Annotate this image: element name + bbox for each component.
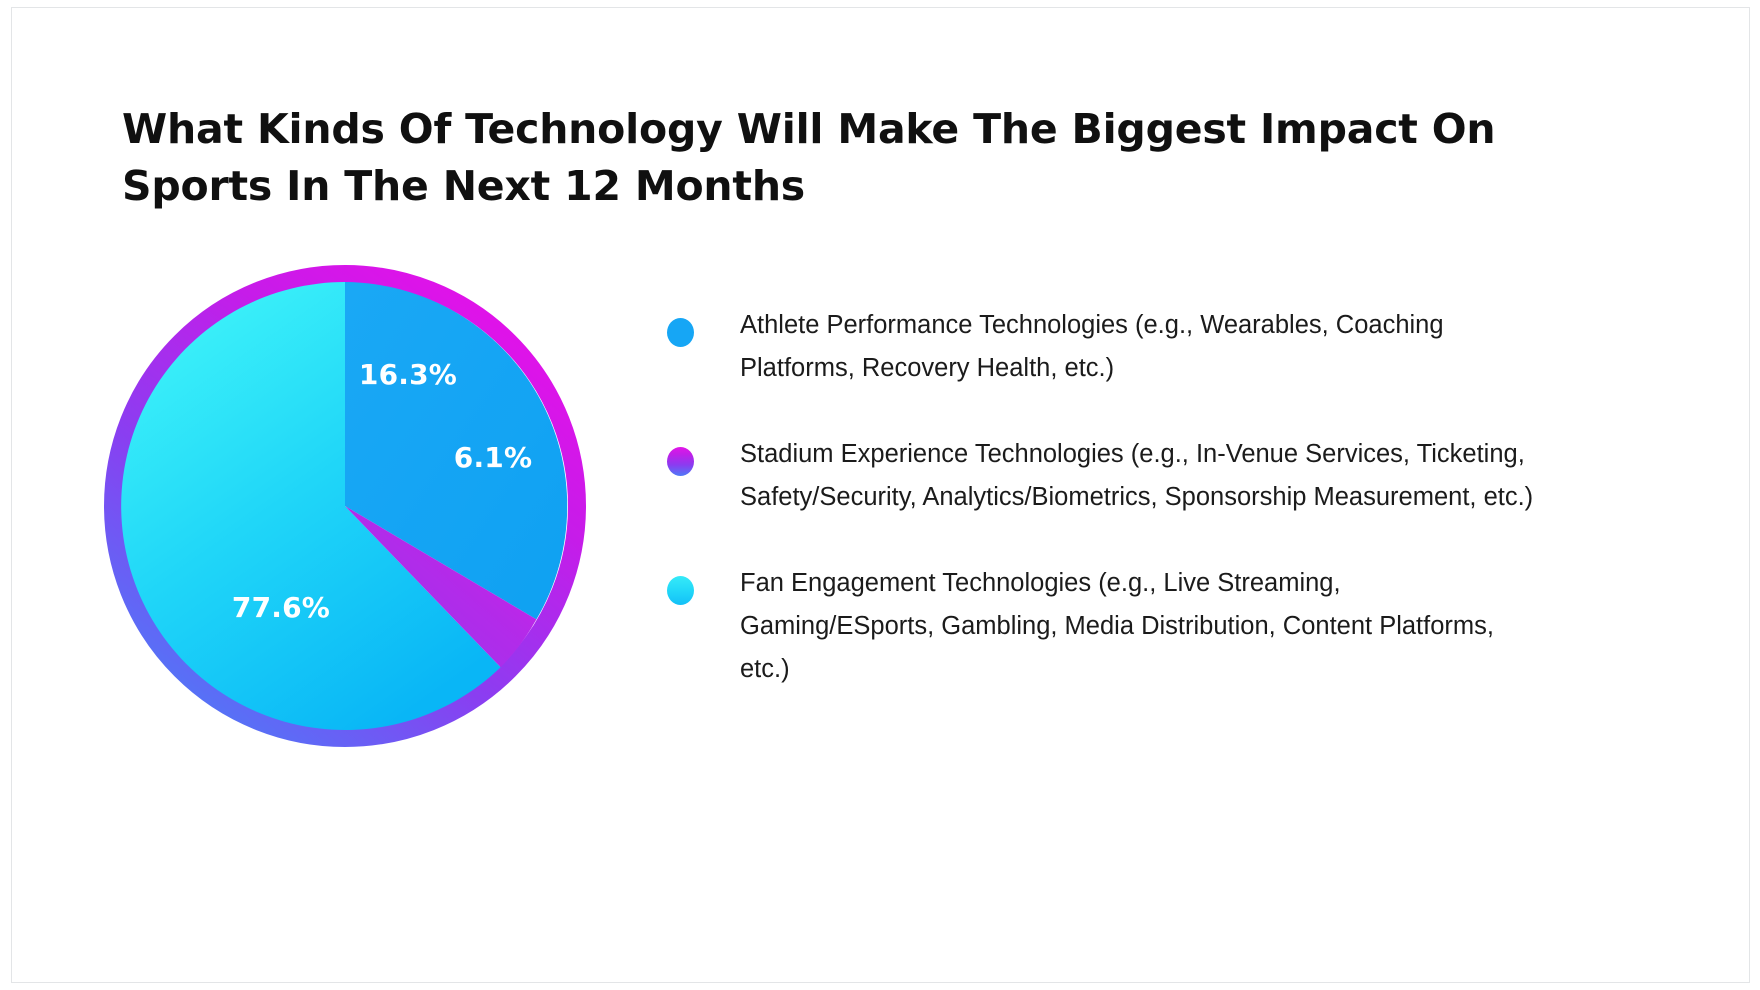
legend-swatch-stadium-experience-icon	[667, 447, 694, 476]
pie-chart-svg: 16.3% 6.1% 77.6%	[97, 258, 597, 758]
pie-label-fan-engagement: 77.6%	[232, 591, 330, 624]
page-title-line-1: What Kinds Of Technology Will Make The B…	[122, 101, 1572, 158]
legend-item-fan-engagement[interactable]: Fan Engagement Technologies (e.g., Live …	[667, 562, 1537, 691]
legend-item-stadium-experience[interactable]: Stadium Experience Technologies (e.g., I…	[667, 433, 1537, 519]
page-title: What Kinds Of Technology Will Make The B…	[122, 101, 1572, 215]
legend-swatch-athlete-performance-icon	[667, 318, 694, 347]
page-title-line-2: Sports In The Next 12 Months	[122, 158, 1572, 215]
legend-label-stadium-experience: Stadium Experience Technologies (e.g., I…	[740, 433, 1537, 519]
pie-label-stadium-experience: 6.1%	[454, 441, 532, 474]
chart-legend: Athlete Performance Technologies (e.g., …	[667, 304, 1537, 691]
legend-item-athlete-performance[interactable]: Athlete Performance Technologies (e.g., …	[667, 304, 1537, 390]
pie-label-athlete-performance: 16.3%	[359, 358, 457, 391]
pie-chart: 16.3% 6.1% 77.6%	[97, 258, 597, 758]
legend-label-athlete-performance: Athlete Performance Technologies (e.g., …	[740, 304, 1537, 390]
legend-label-fan-engagement: Fan Engagement Technologies (e.g., Live …	[740, 562, 1537, 691]
legend-swatch-fan-engagement-icon	[667, 576, 694, 605]
chart-card: What Kinds Of Technology Will Make The B…	[11, 7, 1750, 983]
